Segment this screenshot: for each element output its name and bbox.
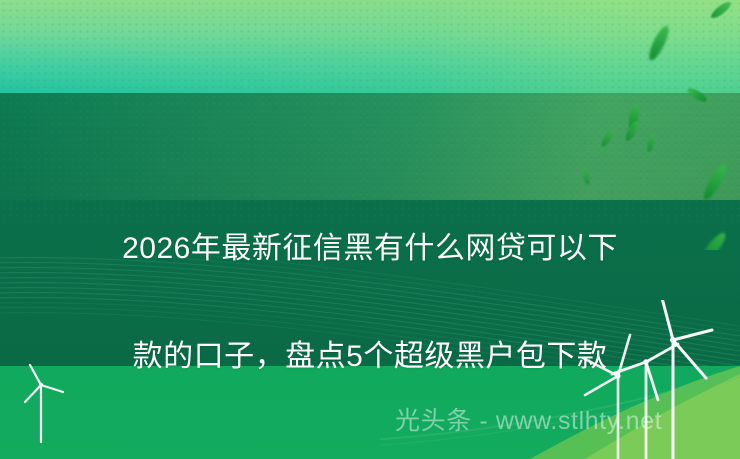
page-title: 2026年最新征信黑有什么网贷可以下 款的口子，盘点5个超级黑户包下款 [0,168,740,384]
watermark: 光头条 - www.stlhty.net [395,404,662,438]
background-band-top [0,0,740,93]
headline-line-2: 款的口子，盘点5个超级黑户包下款 [133,340,608,373]
headline-line-1: 2026年最新征信黑有什么网贷可以下 [122,232,618,265]
cover-image-canvas: 2026年最新征信黑有什么网贷可以下 款的口子，盘点5个超级黑户包下款 光头条 … [0,0,740,459]
